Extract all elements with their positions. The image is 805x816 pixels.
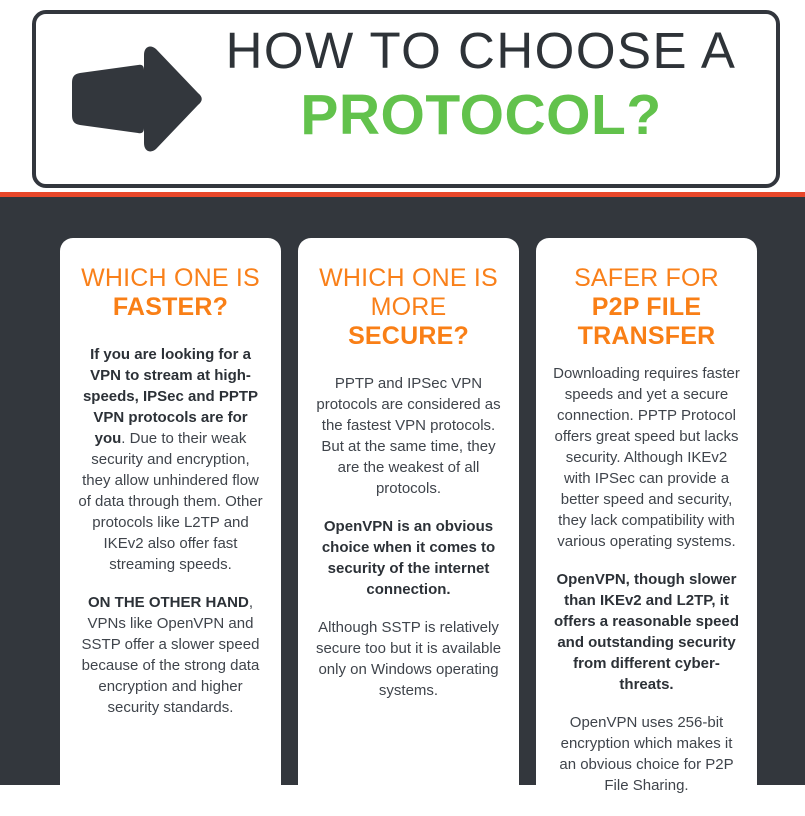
card-paragraph: Although SSTP is relatively secure too b… [314,617,503,701]
card-paragraph: OpenVPN uses 256-bit encryption which ma… [552,712,741,796]
card-title-secure: WHICH ONE IS MORE SECURE? [314,264,503,351]
card-title-regular: SAFER FOR [574,264,719,292]
paragraph-regular: . Due to their weak security and encrypt… [78,430,262,573]
paragraph-bold: ON THE OTHER HAND [88,594,249,611]
paragraph-bold: OpenVPN, though slower than IKEv2 and L2… [554,571,739,693]
paragraph-regular: OpenVPN uses 256-bit encryption which ma… [559,714,733,794]
card-body-faster: If you are looking for a VPN to stream a… [76,344,265,718]
card-body-p2p: Downloading requires faster speeds and y… [552,363,741,796]
card-title-faster: WHICH ONE IS FASTER? [76,264,265,322]
right-arrow-icon [64,39,204,159]
paragraph-regular: Although SSTP is relatively secure too b… [316,619,501,699]
card-title-p2p: SAFER FOR P2P FILE TRANSFER [552,264,741,351]
header-title-block: HOW TO CHOOSE A PROTOCOL? [196,20,766,148]
card-title-regular: WHICH ONE IS [81,264,260,292]
paragraph-regular: Downloading requires faster speeds and y… [553,365,740,550]
page-title-line2: PROTOCOL? [196,82,766,148]
card-title-regular: WHICH ONE IS MORE [319,264,498,321]
card-paragraph: If you are looking for a VPN to stream a… [76,344,265,575]
card-paragraph: OpenVPN, though slower than IKEv2 and L2… [552,569,741,695]
card-title-bold: SECURE? [348,322,469,350]
card-paragraph: Downloading requires faster speeds and y… [552,363,741,552]
card-p2p: SAFER FOR P2P FILE TRANSFER Downloading … [536,238,757,816]
infographic-root: HOW TO CHOOSE A PROTOCOL? WHICH ONE IS F… [0,0,805,785]
cards-row: WHICH ONE IS FASTER? If you are looking … [60,238,757,816]
page-title-line1: HOW TO CHOOSE A [196,20,766,82]
header-box: HOW TO CHOOSE A PROTOCOL? [32,10,780,188]
card-body-secure: PPTP and IPSec VPN protocols are conside… [314,373,503,701]
card-secure: WHICH ONE IS MORE SECURE? PPTP and IPSec… [298,238,519,816]
body-zone: WHICH ONE IS FASTER? If you are looking … [0,197,805,785]
card-paragraph: PPTP and IPSec VPN protocols are conside… [314,373,503,499]
card-title-bold: FASTER? [113,293,228,321]
paragraph-regular: , VPNs like OpenVPN and SSTP offer a slo… [82,594,260,716]
paragraph-bold: OpenVPN is an obvious choice when it com… [322,518,495,598]
card-faster: WHICH ONE IS FASTER? If you are looking … [60,238,281,816]
card-paragraph: OpenVPN is an obvious choice when it com… [314,516,503,600]
card-title-bold: P2P FILE TRANSFER [578,293,716,350]
paragraph-regular: PPTP and IPSec VPN protocols are conside… [316,375,500,497]
header-zone: HOW TO CHOOSE A PROTOCOL? [0,0,805,196]
card-paragraph: ON THE OTHER HAND, VPNs like OpenVPN and… [76,592,265,718]
